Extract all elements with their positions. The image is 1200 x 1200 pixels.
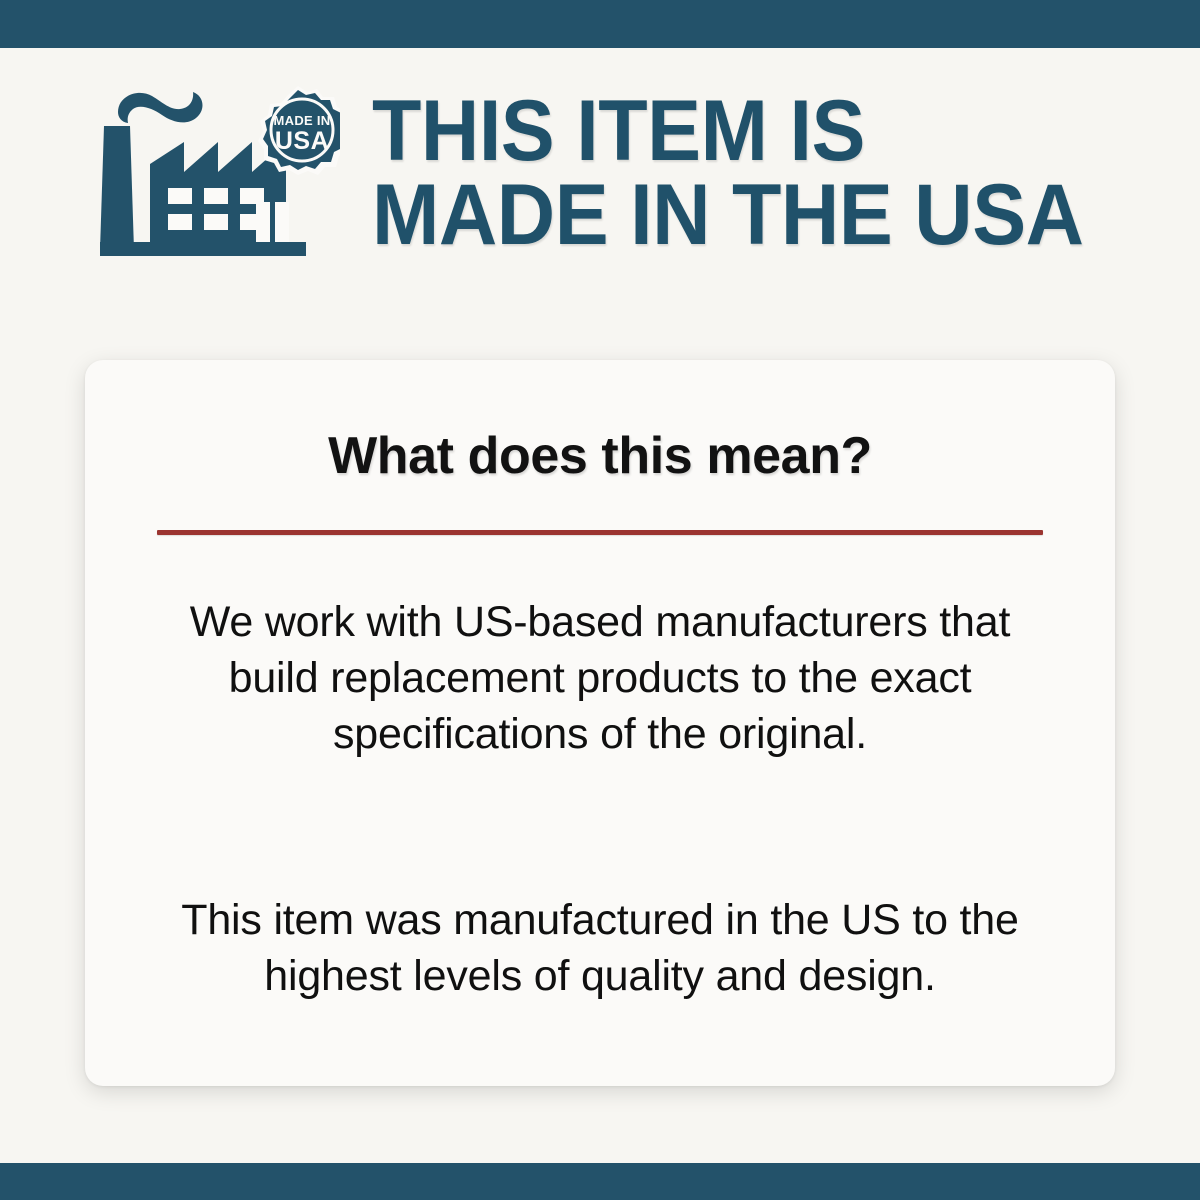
factory-icon: MADE IN USA: [100, 84, 340, 269]
top-accent-bar: [0, 0, 1200, 48]
card-paragraph-1: We work with US-based manufacturers that…: [157, 595, 1043, 763]
headline-line-1: THIS ITEM IS: [372, 89, 1084, 173]
bottom-accent-bar: [0, 1163, 1200, 1200]
info-card: What does this mean? We work with US-bas…: [85, 360, 1115, 1086]
card-heading: What does this mean?: [157, 360, 1043, 486]
made-in-usa-seal-icon: MADE IN USA: [258, 86, 340, 175]
card-paragraph-2: This item was manufactured in the US to …: [157, 893, 1043, 1005]
svg-text:MADE IN: MADE IN: [274, 113, 331, 128]
headline-line-2: MADE IN THE USA: [372, 173, 1084, 257]
header-section: MADE IN USA THIS ITEM IS MADE IN THE USA: [0, 48, 1200, 298]
made-in-usa-banner: MADE IN USA THIS ITEM IS MADE IN THE USA…: [0, 0, 1200, 1200]
page-title: THIS ITEM IS MADE IN THE USA: [372, 89, 1084, 258]
heading-divider: [157, 530, 1043, 535]
svg-text:USA: USA: [275, 127, 329, 155]
